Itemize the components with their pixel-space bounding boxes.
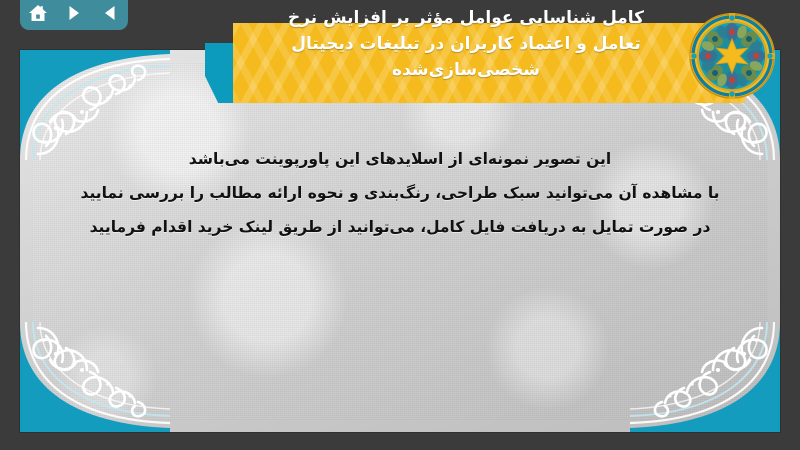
previous-button[interactable] bbox=[97, 1, 123, 25]
next-button[interactable] bbox=[61, 1, 87, 25]
page-title: کامل شناسایی عوامل مؤثر بر افزایش نرخ تع… bbox=[205, 5, 745, 83]
triangle-left-icon bbox=[101, 4, 119, 22]
triangle-right-icon bbox=[65, 4, 83, 22]
slide-frame: این تصویر نمونه‌ای از اسلایدهای این پاور… bbox=[20, 50, 780, 432]
home-button[interactable] bbox=[25, 1, 51, 25]
home-icon bbox=[28, 4, 48, 22]
slide-navigation-bar bbox=[20, 0, 128, 30]
slide-viewer: این تصویر نمونه‌ای از اسلایدهای این پاور… bbox=[0, 0, 800, 450]
slide-title-banner: کامل شناسایی عوامل مؤثر بر افزایش نرخ تع… bbox=[205, 23, 745, 103]
persian-medallion-icon bbox=[686, 10, 778, 102]
slide-body-text: این تصویر نمونه‌ای از اسلایدهای این پاور… bbox=[60, 142, 740, 244]
